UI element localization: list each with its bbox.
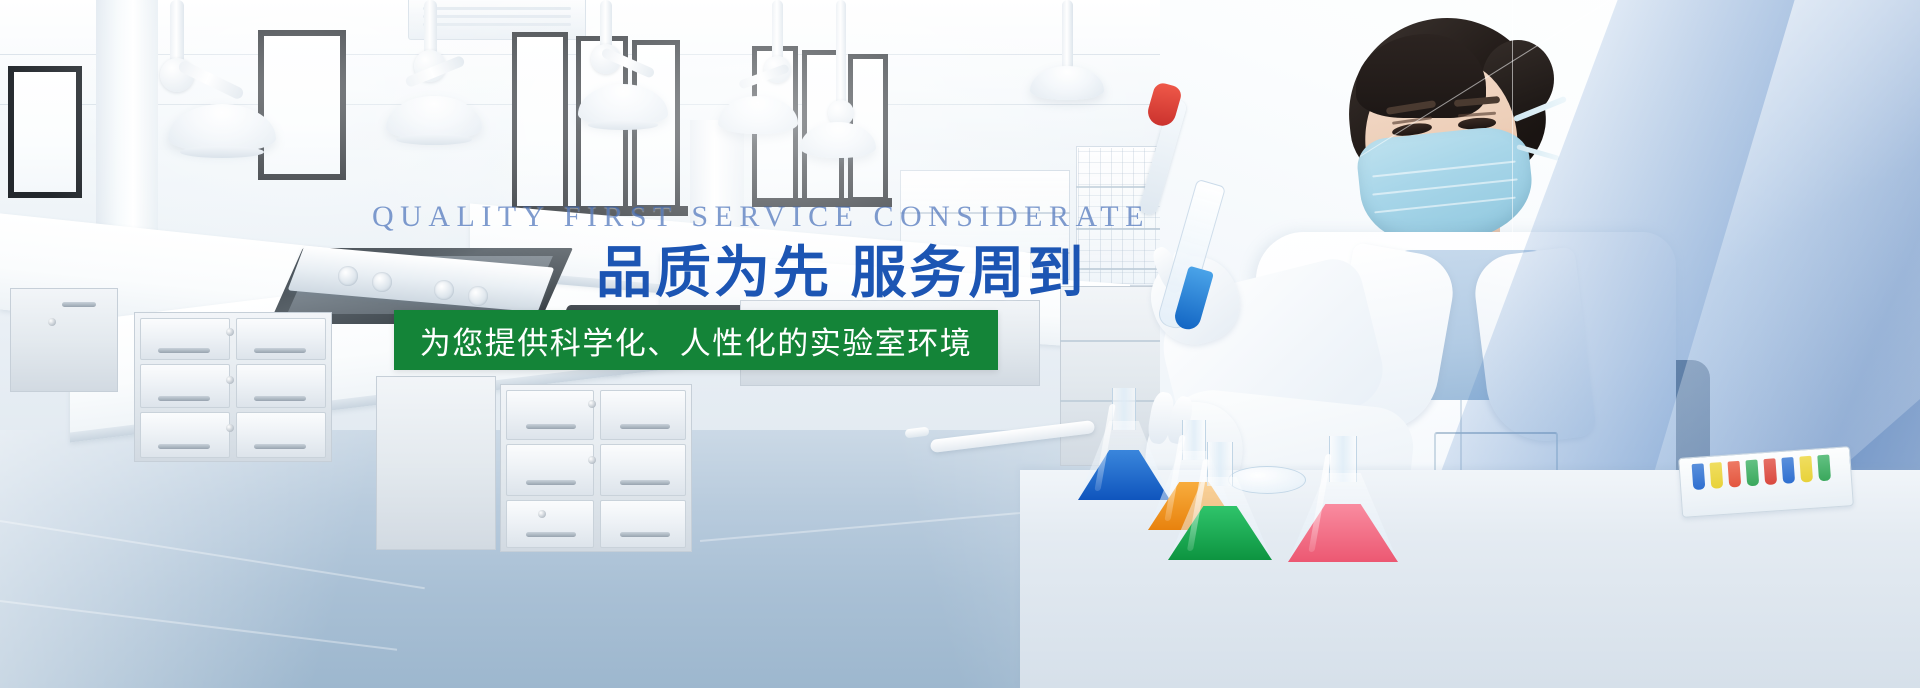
window-pane [258,30,346,180]
drawer-handle [254,444,306,449]
extraction-arm-pipe [772,0,783,64]
drawer [506,500,594,548]
headline-english: QUALITY FIRST SERVICE CONSIDERATE [372,198,1028,236]
drawer [506,444,594,496]
drawer [236,412,326,458]
fume-hood-rim [588,120,658,130]
drawer-lock [226,376,234,384]
drawer-handle [620,480,670,485]
pipette-tip [1799,456,1813,483]
drawer [600,444,686,496]
cabinet-handle [62,302,96,307]
headline-chinese: 品质为先 服务周到 [596,242,1028,304]
drawer [506,390,594,440]
drawer-handle [526,424,576,429]
banner-copy: QUALITY FIRST SERVICE CONSIDERATE 品质为先 服… [368,198,1028,370]
drawer [140,318,230,360]
drawer-handle [620,532,670,537]
drawer-handle [620,424,670,429]
drawer [600,390,686,440]
fume-hood-rim [396,134,472,145]
drawer-handle [254,348,306,353]
drawer [140,364,230,408]
pipette-tip [1817,455,1831,482]
drawer [236,318,326,360]
ac-vent [423,15,571,18]
subtitle-green-bar: 为您提供科学化、人性化的实验室环境 [394,310,998,370]
drawer [140,412,230,458]
subtitle-chinese: 为您提供科学化、人性化的实验室环境 [420,318,973,363]
drawer-lock [538,510,546,518]
drawer-lock [588,456,596,464]
drawer-lock [226,424,234,432]
drawer-cabinet [376,376,496,550]
drawer-handle [158,348,210,353]
drawer [236,364,326,408]
pipette-tip [1727,461,1741,488]
drawer-handle [158,396,210,401]
flask-green [1168,442,1272,560]
drawer-lock [588,400,596,408]
pipette-tip-rack [1678,446,1854,518]
pipette-tip [1692,463,1706,490]
panel-edge-line [1512,0,1513,250]
extraction-arm-pipe [836,0,846,108]
drawer-handle [254,396,306,401]
window-pane [512,32,568,214]
pipette-tip [1745,460,1759,487]
extraction-arm-pipe [170,0,184,66]
pipette-tip [1781,457,1795,484]
window-pane [8,66,82,198]
ac-vent [423,7,571,10]
drawer-handle [158,444,210,449]
power-socket [338,266,358,286]
drawer-handle [526,480,576,485]
ac-vent [423,23,571,26]
pipette-tip [1763,458,1777,485]
fume-hood-rim [180,146,264,158]
drawer-lock [226,328,234,336]
cabinet-lock [48,318,56,326]
drawer [600,500,686,548]
pipette-tip [1710,462,1724,489]
flask-pink [1288,436,1398,562]
extraction-arm-pipe [1062,0,1073,70]
hero-banner: QUALITY FIRST SERVICE CONSIDERATE 品质为先 服… [0,0,1920,688]
drawer-handle [526,532,576,537]
